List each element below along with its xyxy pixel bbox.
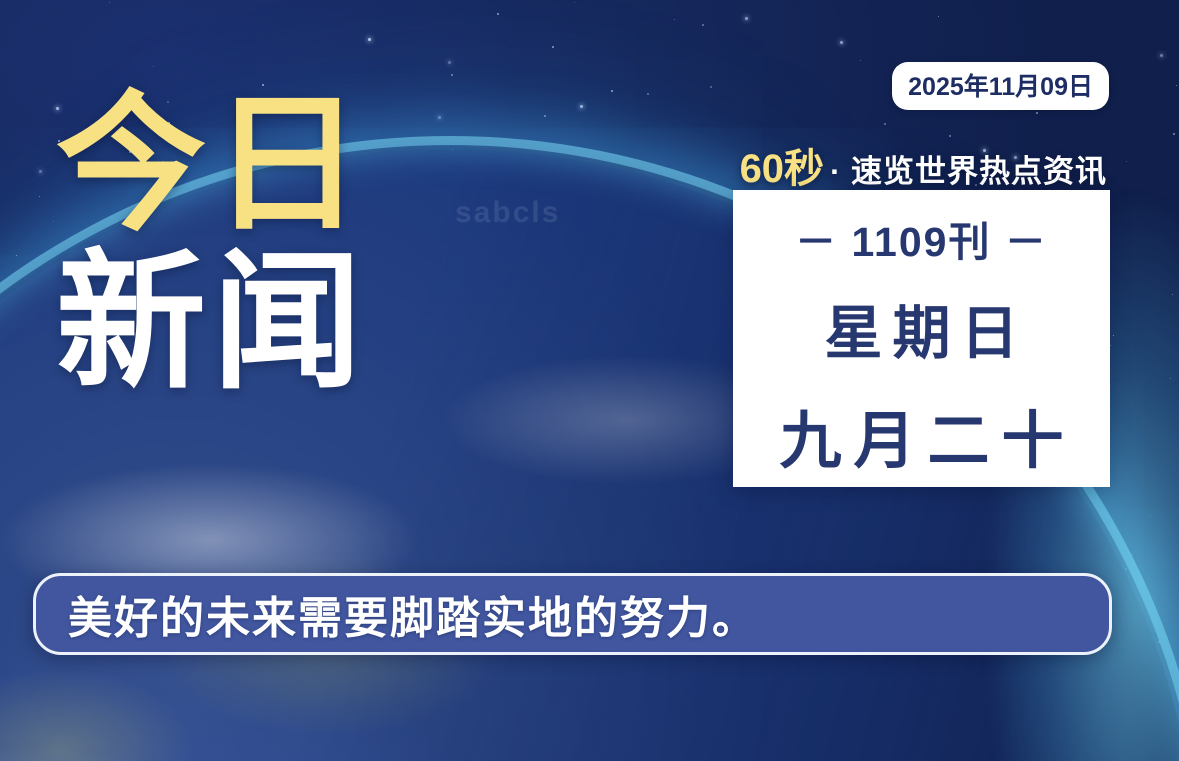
poster-title: 今日 新闻 (56, 92, 368, 394)
date-badge: 2025年11月09日 (892, 62, 1109, 110)
tagline-description: · 速览世界热点资讯 (830, 154, 1107, 189)
quote-text: 美好的未来需要脚踏实地的努力。 (68, 582, 758, 646)
tagline-seconds: 60秒 (740, 147, 825, 191)
title-line-news: 新闻 (56, 250, 368, 394)
quote-banner: 美好的未来需要脚踏实地的努力。 (33, 573, 1112, 655)
lunar-date-label: 九月二十 (767, 390, 1075, 480)
watermark-text: sabcls (455, 196, 560, 230)
weekday-label: 星期日 (814, 286, 1028, 370)
title-line-today: 今日 (56, 92, 368, 236)
issue-number: － 1109刊 － (795, 208, 1048, 268)
info-card: － 1109刊 － 星期日 九月二十 (733, 190, 1110, 487)
tagline: 60秒· 速览世界热点资讯 (740, 136, 1107, 194)
news-poster: 今日 新闻 sabcls 2025年11月09日 60秒· 速览世界热点资讯 －… (0, 0, 1179, 761)
